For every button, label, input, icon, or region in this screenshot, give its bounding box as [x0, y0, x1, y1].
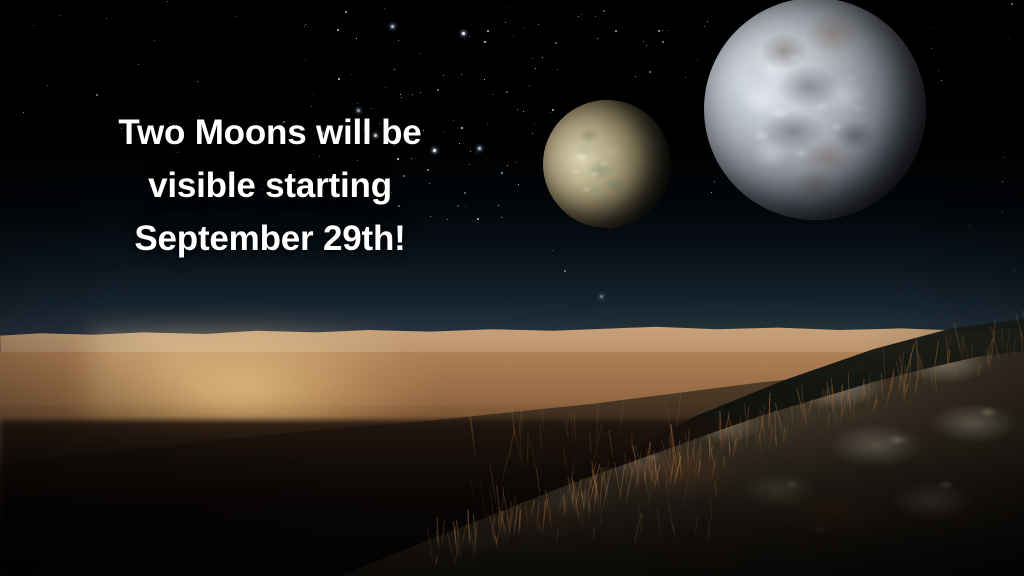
landscape	[0, 0, 1024, 576]
headline-text: Two Moons will be visible starting Septe…	[60, 106, 480, 265]
scene-canvas: Two Moons will be visible starting Septe…	[0, 0, 1024, 576]
